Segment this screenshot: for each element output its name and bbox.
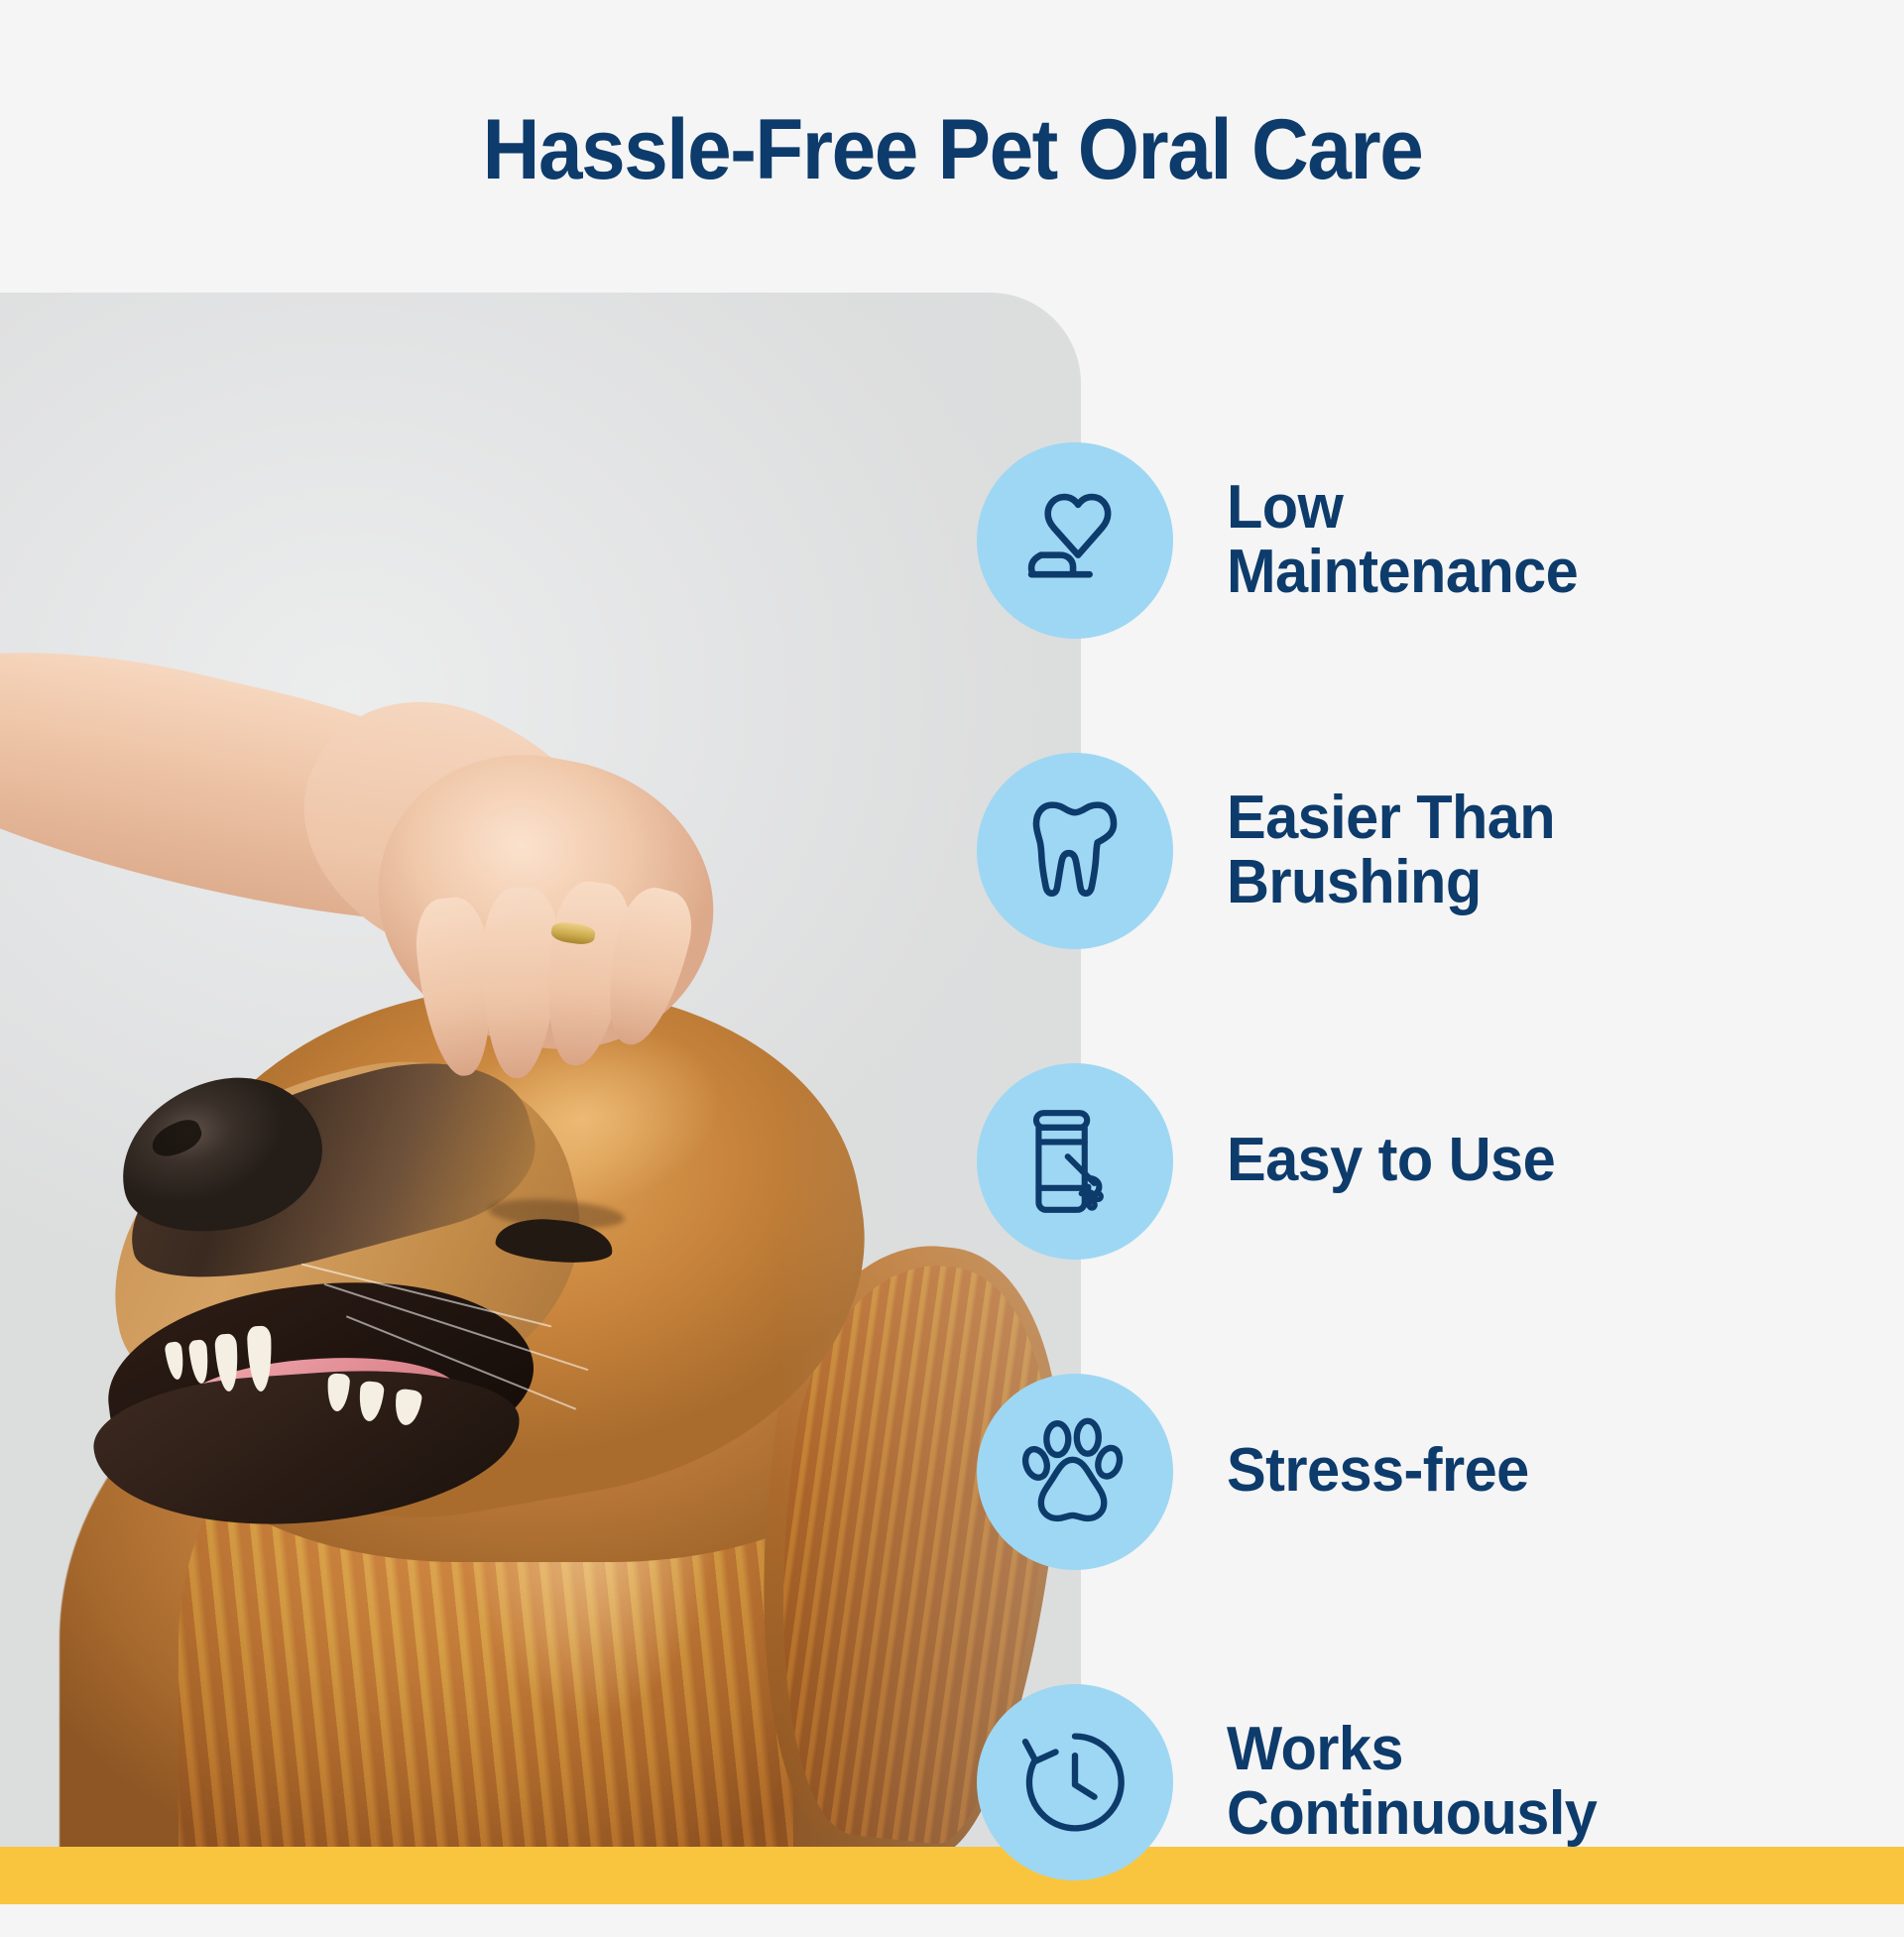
bottom-accent-bar [0,1847,1904,1904]
feature-label: Works Continuously [1227,1718,1597,1846]
header-bar: Hassle-Free Pet Oral Care [0,0,1904,293]
feature-label: Easier Than Brushing [1227,787,1555,914]
product-photo-card [0,293,1081,1847]
feature-icon-badge [977,1684,1173,1880]
dog-photo-illustration [0,293,1081,1847]
feature-icon-badge [977,442,1173,639]
feature-icon-badge [977,1374,1173,1570]
feature-item-low-maintenance: Low Maintenance [977,385,1849,695]
feature-item-easier-than-brushing: Easier Than Brushing [977,695,1849,1006]
feature-label: Low Maintenance [1227,476,1578,604]
heart-with-pet-bed-icon [1014,480,1135,601]
feature-label: Stress-free [1227,1439,1529,1503]
feature-item-easy-to-use: Easy to Use [977,1006,1849,1316]
tooth-icon [1014,790,1135,911]
feature-label: Easy to Use [1227,1129,1555,1192]
feature-list: Low Maintenance Easier Than Brushing [977,385,1849,1937]
clock-rotate-icon [1014,1722,1135,1843]
photo-backdrop [0,293,1081,1847]
jar-with-scoop-icon [1014,1101,1135,1222]
feature-icon-badge [977,1063,1173,1260]
feature-icon-badge [977,753,1173,949]
paw-print-icon [1014,1411,1135,1532]
page-title: Hassle-Free Pet Oral Care [482,101,1422,192]
feature-item-stress-free: Stress-free [977,1316,1849,1627]
